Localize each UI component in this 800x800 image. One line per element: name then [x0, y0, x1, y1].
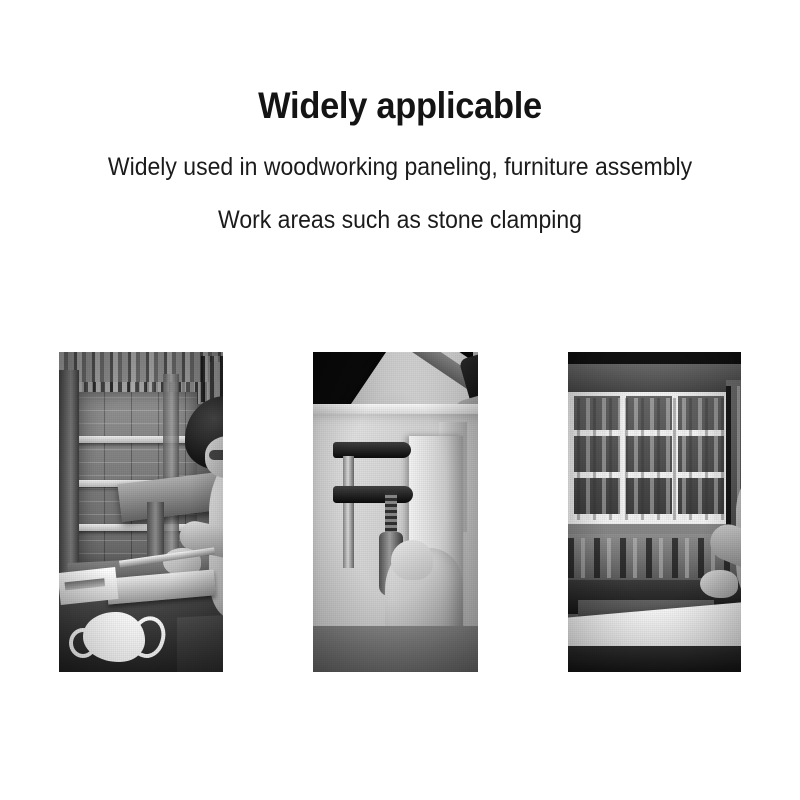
- gallery-photo-woodworker-at-bench: Man wearing glasses working wood at a wo…: [59, 352, 223, 672]
- shelf-stored-items: [570, 398, 726, 520]
- table-shadow-edge: [568, 646, 741, 672]
- subtitle-line-2: Work areas such as stone clamping: [32, 205, 768, 235]
- try-square-tool: [59, 567, 119, 605]
- woman-hand: [700, 570, 738, 598]
- woodworker-glasses: [209, 450, 223, 460]
- bench-surface: [313, 626, 478, 672]
- f-clamp-upper-bar: [343, 456, 354, 568]
- photo-gallery: Man wearing glasses working wood at a wo…: [19, 336, 781, 656]
- product-feature-page: Widely applicable Widely used in woodwor…: [0, 0, 800, 800]
- wall-shelf-top: [71, 436, 199, 443]
- white-watermark-shape: [83, 612, 145, 662]
- subtitle-line-1: Widely used in woodworking paneling, fur…: [32, 152, 768, 182]
- gallery-photo-f-clamps-and-router: Two F-clamps holding a cabinet panel whi…: [313, 352, 478, 672]
- page-title: Widely applicable: [28, 84, 772, 128]
- lower-hand-thumb: [391, 540, 433, 580]
- gallery-photo-workshop-panel-handling: Woman in a workshop sliding a plywood sh…: [568, 352, 741, 672]
- hanging-hand-tools: [201, 356, 223, 402]
- shelf-upright: [163, 374, 179, 574]
- f-clamp-lower-jaw: [333, 486, 413, 503]
